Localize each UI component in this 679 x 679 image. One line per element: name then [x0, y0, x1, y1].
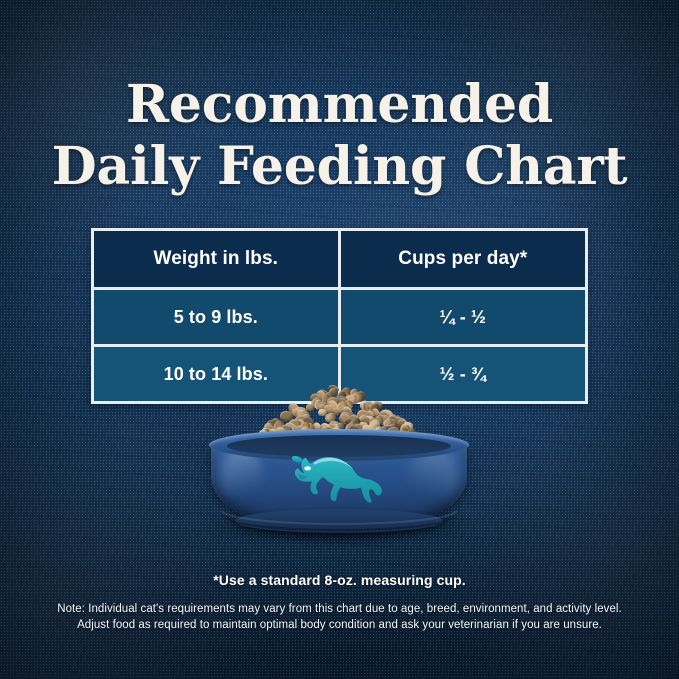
footnote-measuring-cup: *Use a standard 8-oz. measuring cup. — [0, 572, 679, 588]
bowl-highlight-right — [409, 448, 459, 514]
title-line-2: Daily Feeding Chart — [0, 136, 679, 198]
title-line-1: Recommended — [0, 74, 679, 136]
bison-logo-icon — [289, 453, 385, 507]
table-row: 5 to 9 lbs. ¼ - ½ — [94, 290, 585, 344]
footnote-disclaimer-line-1: Note: Individual cat's requirements may … — [0, 601, 679, 617]
dog-food-bowl-illustration — [205, 385, 473, 550]
column-header-weight: Weight in lbs. — [94, 231, 338, 287]
feeding-table: Weight in lbs. Cups per day* 5 to 9 lbs.… — [91, 228, 588, 404]
cell-cups-range-1: ¼ - ½ — [341, 290, 585, 344]
footnote-disclaimer: Note: Individual cat's requirements may … — [0, 601, 679, 633]
column-header-cups: Cups per day* — [341, 231, 585, 287]
page-title: Recommended Daily Feeding Chart — [0, 74, 679, 198]
footnote-disclaimer-line-2: Adjust food as required to maintain opti… — [0, 617, 679, 633]
kibble-piece — [306, 403, 314, 410]
feeding-chart-graphic: Recommended Daily Feeding Chart Weight i… — [0, 0, 679, 679]
bowl-base-foot — [235, 509, 443, 533]
cell-weight-range-1: 5 to 9 lbs. — [94, 290, 338, 344]
table-header-row: Weight in lbs. Cups per day* — [94, 231, 585, 287]
